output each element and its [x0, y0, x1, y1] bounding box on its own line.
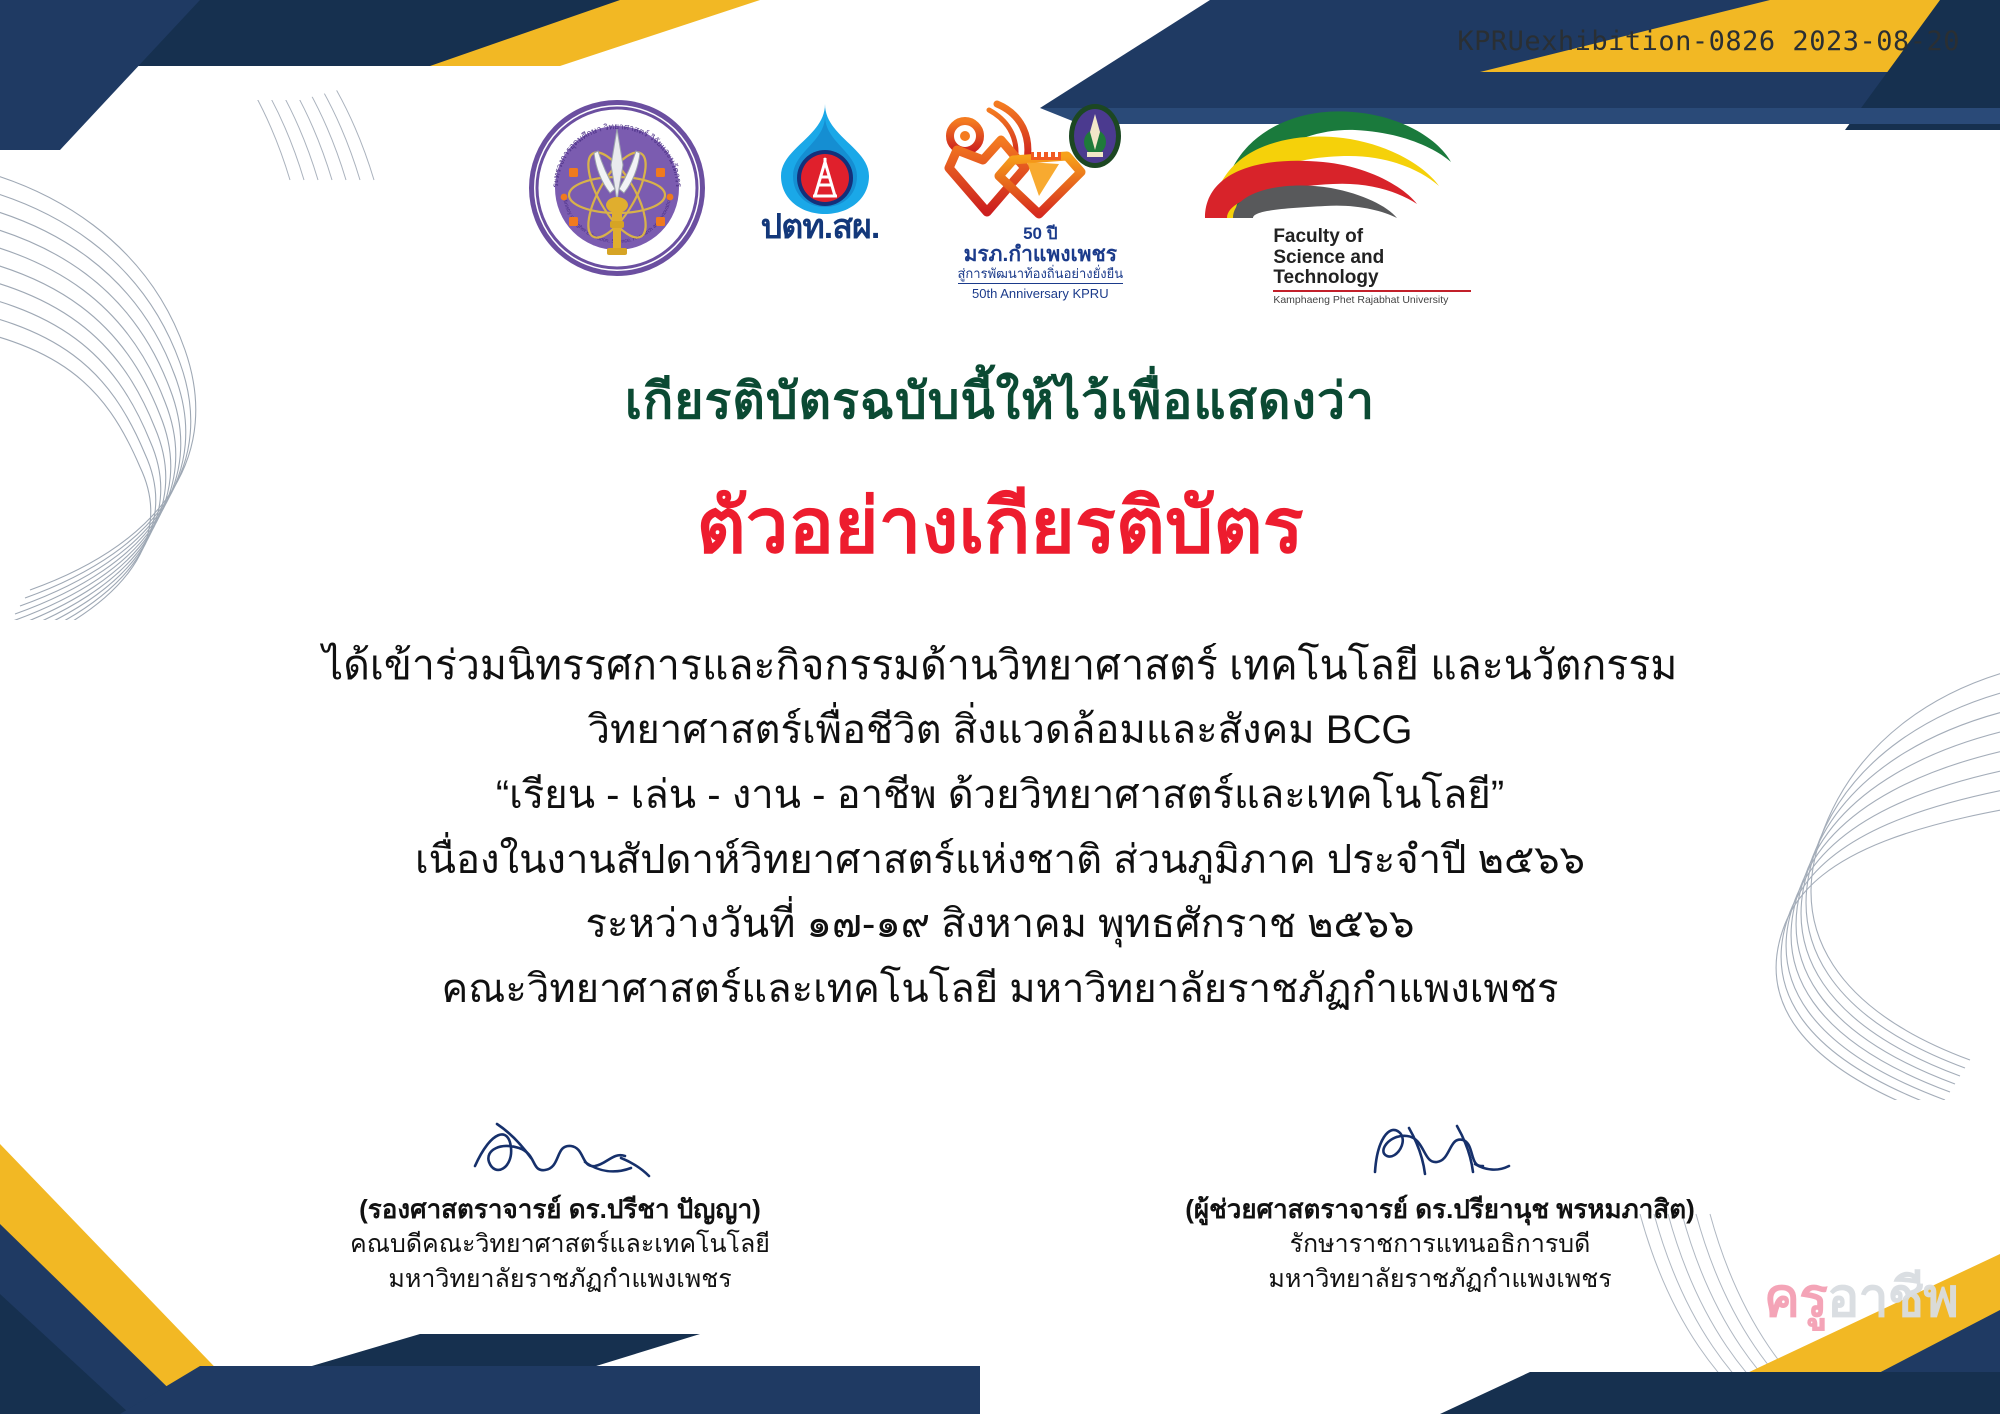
signature-block-president: (ผู้ช่วยศาสตราจารย์ ดร.ปรียานุช พรหมภาสิ…	[1180, 1116, 1700, 1296]
recipient-name: ตัวอย่างเกียรติบัตร	[0, 481, 2000, 572]
watermark: ครูอาชีพ	[1764, 1254, 1958, 1340]
kpru50-line1: 50 ปี	[1023, 225, 1057, 243]
signature-block-dean: (รองศาสตราจารย์ ดร.ปรีชา ปัญญา) คณบดีคณะ…	[300, 1116, 820, 1296]
document-code-label: KPRUexhibition-0826 2023-08-20	[1457, 26, 1960, 57]
body-line-5: ระหว่างวันที่ ๑๗-๑๙ สิงหาคม พุทธศักราช ๒…	[0, 892, 2000, 957]
signature-role-president-2: มหาวิทยาลัยราชภัฏกำแพงเพชร	[1180, 1262, 1700, 1297]
faculty-logo-block: Faculty of Science and Technology Kampha…	[1201, 100, 1471, 306]
certificate-heading: เกียรติบัตรฉบับนี้ให้ไว้เพื่อแสดงว่า	[0, 370, 2000, 433]
kpru50-line3: สู่การพัฒนาท้องถิ่นอย่างยั่งยืน	[958, 266, 1124, 284]
ministry-of-higher-education-emblem-icon: กระทรวงการอุดมศึกษา วิทยาศาสตร์ วิจัยและ…	[529, 100, 705, 276]
kpru50-emblem-icon	[935, 100, 1145, 225]
pttep-drop-icon	[777, 100, 863, 204]
signature-name-president: (ผู้ช่วยศาสตราจารย์ ดร.ปรียานุช พรหมภาสิ…	[1180, 1192, 1700, 1227]
kpru50-line4: 50th Anniversary KPRU	[972, 286, 1109, 303]
faculty-line3: Kamphaeng Phet Rajabhat University	[1273, 290, 1471, 307]
pttep-logo-block: ปตท.สผ.	[761, 100, 880, 244]
logo-row: กระทรวงการอุดมศึกษา วิทยาศาสตร์ วิจัยและ…	[0, 100, 2000, 306]
watermark-part1: ครู	[1764, 1268, 1827, 1328]
signature-row: (รองศาสตราจารย์ ดร.ปรีชา ปัญญา) คณบดีคณะ…	[0, 1116, 2000, 1296]
kpru50-logo-block: 50 ปี มรภ.กำแพงเพชร สู่การพัฒนาท้องถิ่นอ…	[935, 100, 1145, 302]
signature-role-dean-2: มหาวิทยาลัยราชภัฏกำแพงเพชร	[300, 1262, 820, 1297]
faculty-line2: Science and Technology	[1273, 248, 1471, 289]
body-line-1: ได้เข้าร่วมนิทรรศการและกิจกรรมด้านวิทยาศ…	[0, 632, 2000, 698]
certificate-page: KPRUexhibition-0826 2023-08-20 กระทรวงกา…	[0, 0, 2000, 1414]
signature-mark-dean	[300, 1116, 820, 1190]
faculty-text-block: Faculty of Science and Technology Kampha…	[1201, 227, 1471, 306]
signature-role-dean-1: คณบดีคณะวิทยาศาสตร์และเทคโนโลยี	[300, 1227, 820, 1262]
body-line-2: วิทยาศาสตร์เพื่อชีวิต สิ่งแวดล้อมและสังค…	[0, 698, 2000, 763]
body-line-4: เนื่องในงานสัปดาห์วิทยาศาสตร์แห่งชาติ ส่…	[0, 828, 2000, 893]
signature-name-dean: (รองศาสตราจารย์ ดร.ปรีชา ปัญญา)	[300, 1192, 820, 1227]
kpru50-line2: มรภ.กำแพงเพชร	[964, 243, 1118, 266]
watermark-part2: อาชีพ	[1827, 1268, 1958, 1328]
signature-mark-president	[1180, 1116, 1700, 1190]
faculty-swoosh-icon	[1203, 100, 1469, 225]
body-line-3: “เรียน - เล่น - งาน - อาชีพ ด้วยวิทยาศาส…	[0, 763, 2000, 828]
signature-role-president-1: รักษาราชการแทนอธิการบดี	[1180, 1227, 1700, 1262]
ministry-logo-block: กระทรวงการอุดมศึกษา วิทยาศาสตร์ วิจัยและ…	[529, 100, 705, 276]
certificate-content: เกียรติบัตรฉบับนี้ให้ไว้เพื่อแสดงว่า ตัว…	[0, 370, 2000, 1022]
certificate-body: ได้เข้าร่วมนิทรรศการและกิจกรรมด้านวิทยาศ…	[0, 632, 2000, 1022]
faculty-line1: Faculty of	[1273, 227, 1471, 248]
body-line-6: คณะวิทยาศาสตร์และเทคโนโลยี มหาวิทยาลัยรา…	[0, 957, 2000, 1022]
